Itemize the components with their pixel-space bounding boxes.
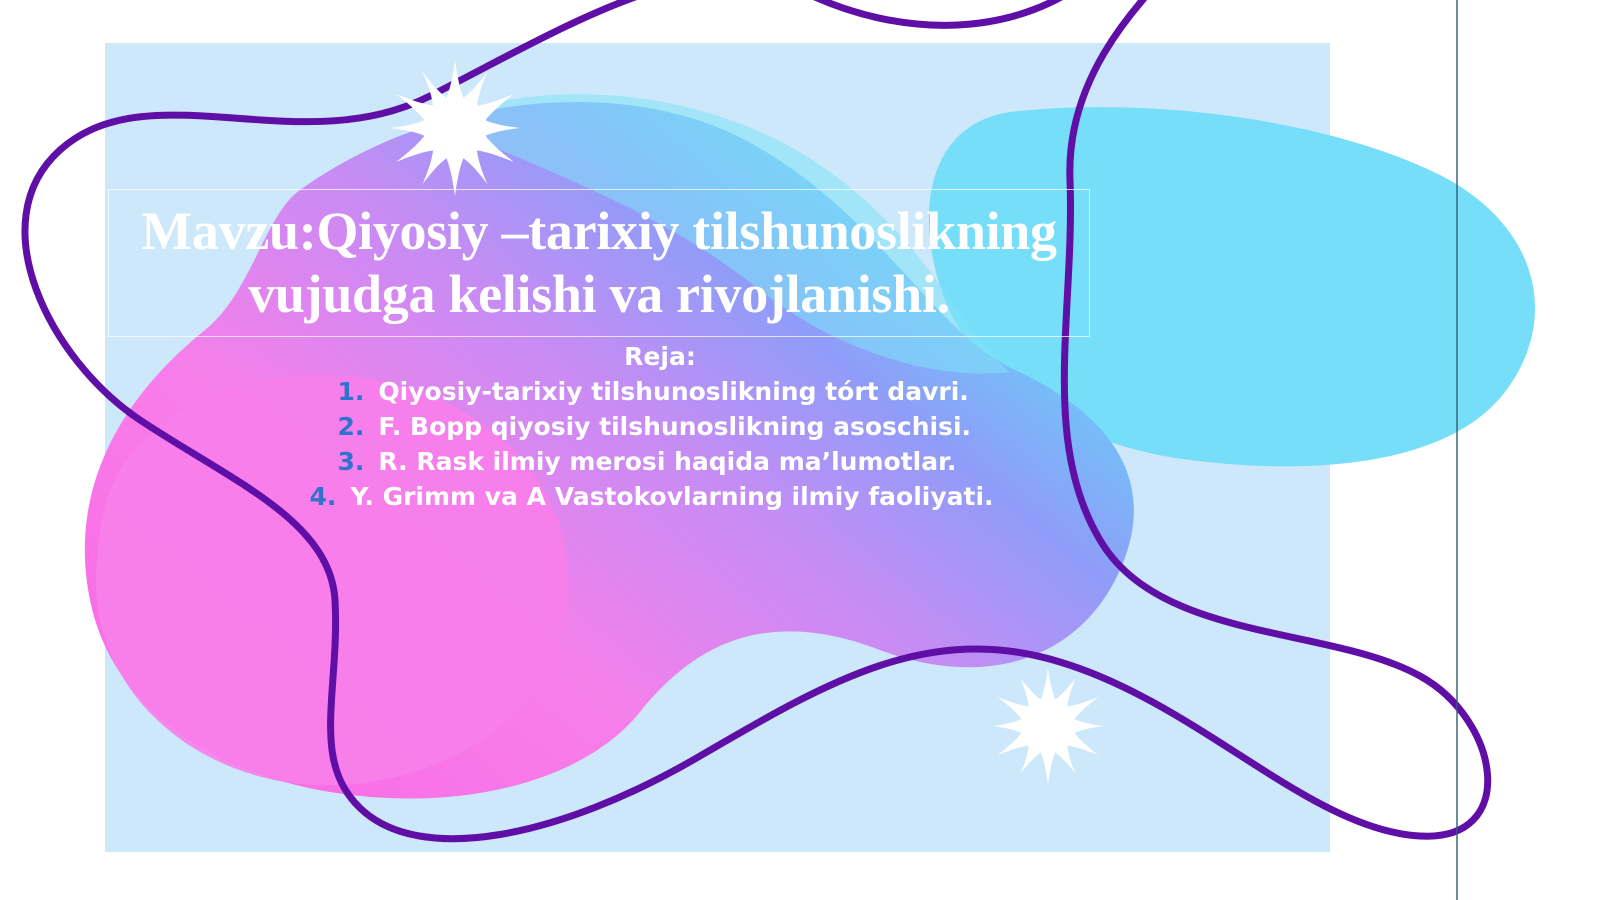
list-item: 1. Qiyosiy-tarixiy tilshunoslikning tórt… — [326, 374, 993, 409]
title-placeholder: Mavzu:Qiyosiy –tarixiy tilshunoslikning … — [108, 189, 1090, 337]
list-item-number: 1. — [326, 374, 364, 409]
list-item: 2. F. Bopp qiyosiy tilshunoslikning asos… — [326, 409, 993, 444]
agenda-list: 1. Qiyosiy-tarixiy tilshunoslikning tórt… — [326, 374, 993, 514]
list-item-number: 3. — [326, 444, 364, 479]
presentation-slide: Mavzu:Qiyosiy –tarixiy tilshunoslikning … — [0, 0, 1600, 900]
list-item: 4. Y. Grimm va A Vastokovlarning ilmiy f… — [298, 479, 993, 514]
list-item-number: 2. — [326, 409, 364, 444]
list-item-text: R. Rask ilmiy merosi haqida ma’lumotlar. — [378, 444, 956, 479]
list-item-text: F. Bopp qiyosiy tilshunoslikning asoschi… — [378, 409, 971, 444]
agenda-heading: Reja: — [180, 341, 1140, 372]
page-title: Mavzu:Qiyosiy –tarixiy tilshunoslikning … — [123, 200, 1075, 325]
list-item: 3. R. Rask ilmiy merosi haqida ma’lumotl… — [326, 444, 993, 479]
list-item-text: Y. Grimm va A Vastokovlarning ilmiy faol… — [350, 479, 993, 514]
list-item-text: Qiyosiy-tarixiy tilshunoslikning tórt da… — [378, 374, 968, 409]
content-placeholder: Reja: 1. Qiyosiy-tarixiy tilshunosliknin… — [180, 341, 1140, 514]
list-item-number: 4. — [298, 479, 336, 514]
